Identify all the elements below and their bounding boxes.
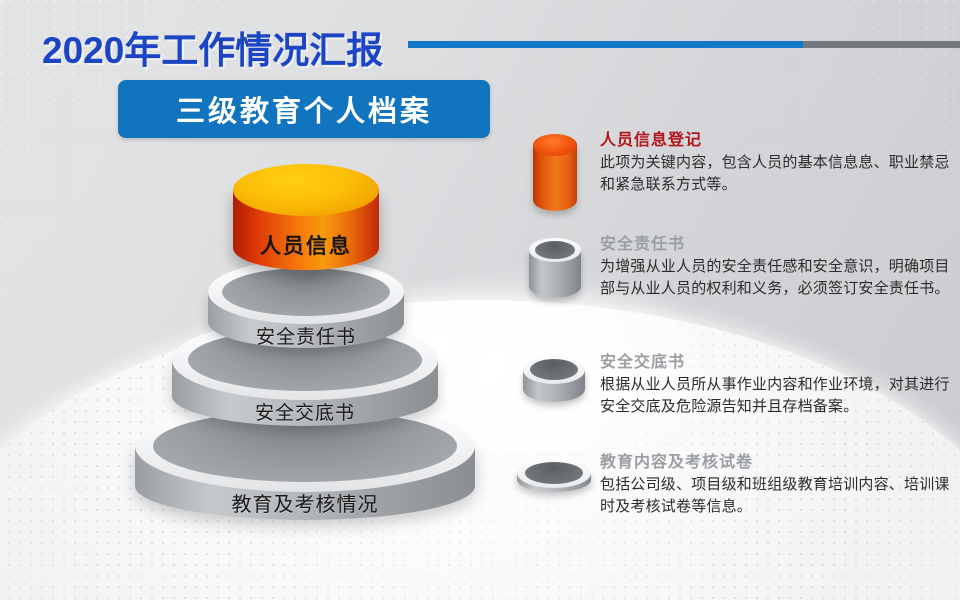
tier-3-label: 安全交底书 — [172, 398, 438, 425]
header-rule-blue — [408, 41, 804, 48]
detail-item-3-text: 安全交底书 根据从业人员所从事作业内容和作业环境，对其进行安全交底及危险源告知并… — [600, 352, 950, 418]
tier-1-top — [233, 164, 379, 216]
detail-item-4-body: 包括公司级、项目级和班组级教育培训内容、培训课时及考核试卷等信息。 — [600, 474, 950, 518]
page-title: 2020年工作情况汇报 — [42, 20, 383, 74]
detail-item-1-text: 人员信息登记 此项为关键内容，包含人员的基本信息息、职业禁忌和紧急联系方式等。 — [600, 130, 950, 196]
tier-2-label: 安全责任书 — [208, 322, 404, 349]
section-banner: 三级教育个人档案 — [118, 80, 490, 138]
cylinder-short-gray-icon — [523, 356, 585, 414]
detail-item-1[interactable]: 人员信息登记 此项为关键内容，包含人员的基本信息息、职业禁忌和紧急联系方式等。 — [505, 130, 960, 226]
ring-flat-gray-icon — [517, 458, 591, 506]
tier-4-label: 教育及考核情况 — [135, 488, 475, 517]
pyramid-diagram: 教育及考核情况 安全交底书 安全责任书 人员信息 — [100, 150, 500, 550]
detail-item-2-text: 安全责任书 为增强从业人员的安全责任感和安全意识，明确项目部与从业人员的权利和义… — [600, 234, 950, 300]
detail-item-3-body: 根据从业人员所从事作业内容和作业环境，对其进行安全交底及危险源告知并且存档备案。 — [600, 374, 950, 418]
slide-canvas: 2020年工作情况汇报 三级教育个人档案 教育及考核情况 安全交底书 安全责任书 — [0, 0, 960, 600]
tier-1-label: 人员信息 — [233, 230, 379, 260]
cylinder-medium-gray-icon — [529, 238, 581, 308]
detail-item-3-title: 安全交底书 — [600, 352, 950, 374]
cylinder-tall-orange-icon — [533, 134, 577, 218]
detail-item-1-title: 人员信息登记 — [600, 130, 950, 152]
detail-item-2-title: 安全责任书 — [600, 234, 950, 256]
detail-item-1-body: 此项为关键内容，包含人员的基本信息息、职业禁忌和紧急联系方式等。 — [600, 152, 950, 196]
detail-item-2-body: 为增强从业人员的安全责任感和安全意识，明确项目部与从业人员的权利和义务，必须签订… — [600, 256, 950, 300]
detail-item-3[interactable]: 安全交底书 根据从业人员所从事作业内容和作业环境，对其进行安全交底及危险源告知并… — [505, 352, 960, 444]
detail-list: 人员信息登记 此项为关键内容，包含人员的基本信息息、职业禁忌和紧急联系方式等。 … — [505, 130, 960, 540]
section-banner-label: 三级教育个人档案 — [176, 88, 432, 130]
detail-item-4[interactable]: 教育内容及考核试卷 包括公司级、项目级和班组级教育培训内容、培训课时及考核试卷等… — [505, 452, 960, 532]
pyramid-tier-1[interactable]: 人员信息 — [233, 164, 379, 282]
header-rule-gray — [803, 41, 960, 48]
detail-item-2[interactable]: 安全责任书 为增强从业人员的安全责任感和安全意识，明确项目部与从业人员的权利和义… — [505, 234, 960, 344]
detail-item-4-text: 教育内容及考核试卷 包括公司级、项目级和班组级教育培训内容、培训课时及考核试卷等… — [600, 452, 950, 518]
detail-item-4-title: 教育内容及考核试卷 — [600, 452, 950, 474]
